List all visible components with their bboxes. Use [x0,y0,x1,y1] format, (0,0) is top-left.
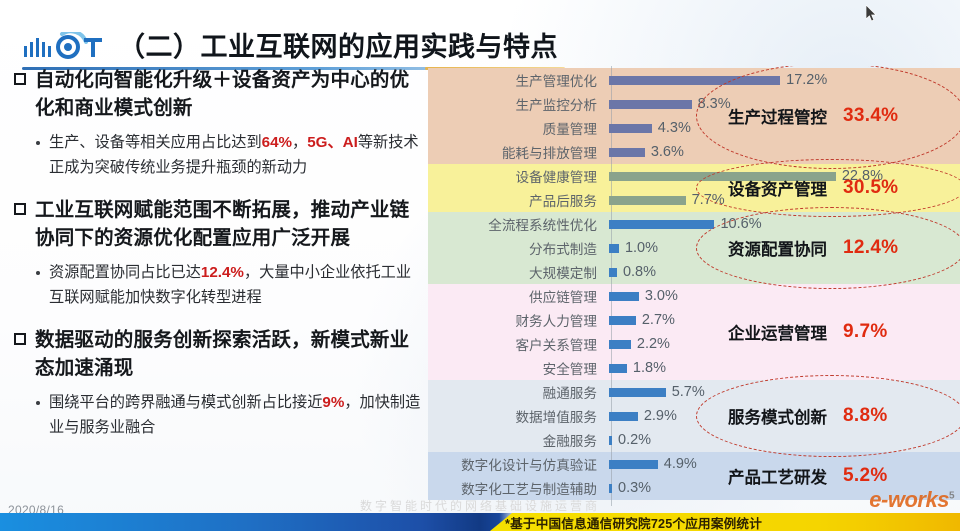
chart-bar-value: 2.9% [644,408,677,424]
key-point-1-heading: 自动化向智能化升级＋设备资产为中心的优化和商业模式创新 [14,66,426,122]
chart-row-label: 质量管理 [428,118,606,138]
chart-row: 融通服务5.7% [428,380,960,404]
chart-bar-value: 1.8% [633,360,666,376]
chart-bar-value: 7.7% [692,192,725,208]
chart-row-label: 财务人力管理 [428,310,606,330]
chart-group-name: 产品工艺研发 [728,464,827,488]
chart-row-label: 生产管理优化 [428,70,606,90]
chart-bar [609,412,638,421]
chart-row-label: 客户关系管理 [428,334,606,354]
chart-row: 安全管理1.8% [428,356,960,380]
chart-row-label: 分布式制造 [428,238,606,258]
chart-bar [609,268,617,277]
chart-bar [609,292,639,301]
chart-row-label: 数字化设计与仿真验证 [428,454,606,474]
chart-bar-value: 4.3% [658,120,691,136]
chart-group-name: 生产过程管控 [728,104,827,128]
chart-bar-value: 0.2% [618,432,651,448]
chart-group-total: 5.2% [843,465,888,487]
chart-bar-wrapper: 0.2% [606,428,960,452]
chart-row: 金融服务0.2% [428,428,960,452]
key-point-3: 数据驱动的服务创新探索活跃，新模式新业态加速涌现 围绕平台的跨界融通与模式创新占… [14,326,426,440]
chart-group-annotation: 企业运营管理9.7% [728,320,888,344]
chart-group-total: 33.4% [843,105,898,127]
chart-row-label: 融通服务 [428,382,606,402]
chart-group-annotation: 服务模式创新8.8% [728,404,888,428]
dot-bullet-icon [36,271,40,275]
chart-group-annotation: 资源配置协同12.4% [728,236,898,260]
chart-group-name: 服务模式创新 [728,404,827,428]
left-content-column: 自动化向智能化升级＋设备资产为中心的优化和商业模式创新 生产、设备等相关应用占比… [14,66,426,506]
chart-group-name: 企业运营管理 [728,320,827,344]
key-point-3-heading-text: 数据驱动的服务创新探索活跃，新模式新业态加速涌现 [35,326,426,382]
chart-bar [609,100,692,109]
chart-bar [609,340,631,349]
chart-row-label: 全流程系统性优化 [428,214,606,234]
chart-bar-value: 2.7% [642,312,675,328]
chart-bar [609,196,686,205]
chart-bar [609,76,780,85]
page-number: 5 [949,491,954,502]
chart-group-name: 资源配置协同 [728,236,827,260]
chart-bar-value: 10.6% [720,216,761,232]
chart-bar-wrapper: 0.8% [606,260,960,284]
key-point-3-bullet: 围绕平台的跨界融通与模式创新占比接近9%，加快制造业与服务业融合 [14,390,426,440]
key-point-3-heading: 数据驱动的服务创新探索活跃，新模式新业态加速涌现 [14,326,426,382]
chart-bar [609,244,619,253]
chart-row: 大规模定制0.8% [428,260,960,284]
chart-row: 全流程系统性优化10.6% [428,212,960,236]
key-point-1: 自动化向智能化升级＋设备资产为中心的优化和商业模式创新 生产、设备等相关应用占比… [14,66,426,180]
page-title: （二）工业互联网的应用实践与特点 [118,25,558,64]
chart-bar-value: 1.0% [625,240,658,256]
chart-bar-wrapper: 3.6% [606,140,960,164]
chart-bar-value: 3.6% [651,144,684,160]
chart-bar-value: 0.3% [618,480,651,496]
background-watermark: 数字智能时代的网络基础设施运营商 [360,497,600,514]
chart-row-label: 能耗与排放管理 [428,142,606,162]
chart-row: 能耗与排放管理3.6% [428,140,960,164]
key-point-2: 工业互联网赋能范围不断拓展，推动产业链协同下的资源优化配置应用广泛开展 资源配置… [14,196,426,310]
key-point-1-heading-text: 自动化向智能化升级＋设备资产为中心的优化和商业模式创新 [35,66,426,122]
chart-bar-wrapper: 17.2% [606,68,960,92]
chart-bar-value: 3.0% [645,288,678,304]
chart-bar-wrapper: 10.6% [606,212,960,236]
chart-row-label: 数据增值服务 [428,406,606,426]
chart-bar [609,124,652,133]
chart-group-total: 8.8% [843,405,888,427]
key-point-1-bullet-text: 生产、设备等相关应用占比达到64%，5G、AI等新技术正成为突破传统业务提升瓶颈… [49,130,426,180]
key-point-2-heading-text: 工业互联网赋能范围不断拓展，推动产业链协同下的资源优化配置应用广泛开展 [35,196,426,252]
eworks-brand-logo: e-works5 [869,487,954,513]
chart-bar-wrapper: 3.0% [606,284,960,308]
chart-group-total: 30.5% [843,177,898,199]
chart-bar [609,316,636,325]
chart-group-annotation: 产品工艺研发5.2% [728,464,888,488]
chart-bar-value: 5.7% [672,384,705,400]
chart-bar [609,388,666,397]
square-bullet-icon [14,203,26,215]
chart-bar-value: 8.3% [698,96,731,112]
square-bullet-icon [14,73,26,85]
chart-row-label: 设备健康管理 [428,166,606,186]
chart-bar-value: 0.8% [623,264,656,280]
chart-row-label: 数字化工艺与制造辅助 [428,478,606,498]
chart-bar-wrapper: 5.7% [606,380,960,404]
chart-bar-value: 4.9% [664,456,697,472]
chart-bar [609,364,627,373]
square-bullet-icon [14,333,26,345]
key-point-2-heading: 工业互联网赋能范围不断拓展，推动产业链协同下的资源优化配置应用广泛开展 [14,196,426,252]
chart-bar-value: 2.2% [637,336,670,352]
dot-bullet-icon [36,401,40,405]
chart-bar [609,220,714,229]
key-point-2-bullet: 资源配置协同占比已达12.4%，大量中小企业依托工业互联网赋能加快数字化转型进程 [14,260,426,310]
slide-header: （二）工业互联网的应用实践与特点 [0,12,960,54]
chart-row: 供应链管理3.0% [428,284,960,308]
chart-group-annotation: 设备资产管理30.5% [728,176,898,200]
chart-bar-value: 17.2% [786,72,827,88]
chart-bar [609,460,658,469]
chart-group-annotation: 生产过程管控33.4% [728,104,898,128]
chart-row-label: 供应链管理 [428,286,606,306]
chart-group-name: 设备资产管理 [728,176,827,200]
chart-source-footnote: *基于中国信息通信研究院725个应用案例统计 [505,514,955,531]
iiot-logo-icon [22,32,118,62]
key-point-2-bullet-text: 资源配置协同占比已达12.4%，大量中小企业依托工业互联网赋能加快数字化转型进程 [49,260,426,310]
key-point-1-bullet: 生产、设备等相关应用占比达到64%，5G、AI等新技术正成为突破传统业务提升瓶颈… [14,130,426,180]
chart-row-label: 安全管理 [428,358,606,378]
chart-row-label: 金融服务 [428,430,606,450]
chart-bar [609,436,612,445]
chart-row-label: 产品后服务 [428,190,606,210]
eworks-brand-text: e-works [869,487,949,512]
chart-row: 生产管理优化17.2% [428,68,960,92]
chart-group-total: 9.7% [843,321,888,343]
chart-row-label: 生产监控分析 [428,94,606,114]
chart-group-total: 12.4% [843,237,898,259]
chart-bar [609,484,612,493]
chart-row-label: 大规模定制 [428,262,606,282]
chart-bar-wrapper: 1.8% [606,356,960,380]
key-point-3-bullet-text: 围绕平台的跨界融通与模式创新占比接近9%，加快制造业与服务业融合 [49,390,426,440]
application-share-bar-chart: 生产管理优化17.2%生产监控分析8.3%质量管理4.3%能耗与排放管理3.6%… [428,66,960,506]
chart-bar [609,148,645,157]
dot-bullet-icon [36,141,40,145]
